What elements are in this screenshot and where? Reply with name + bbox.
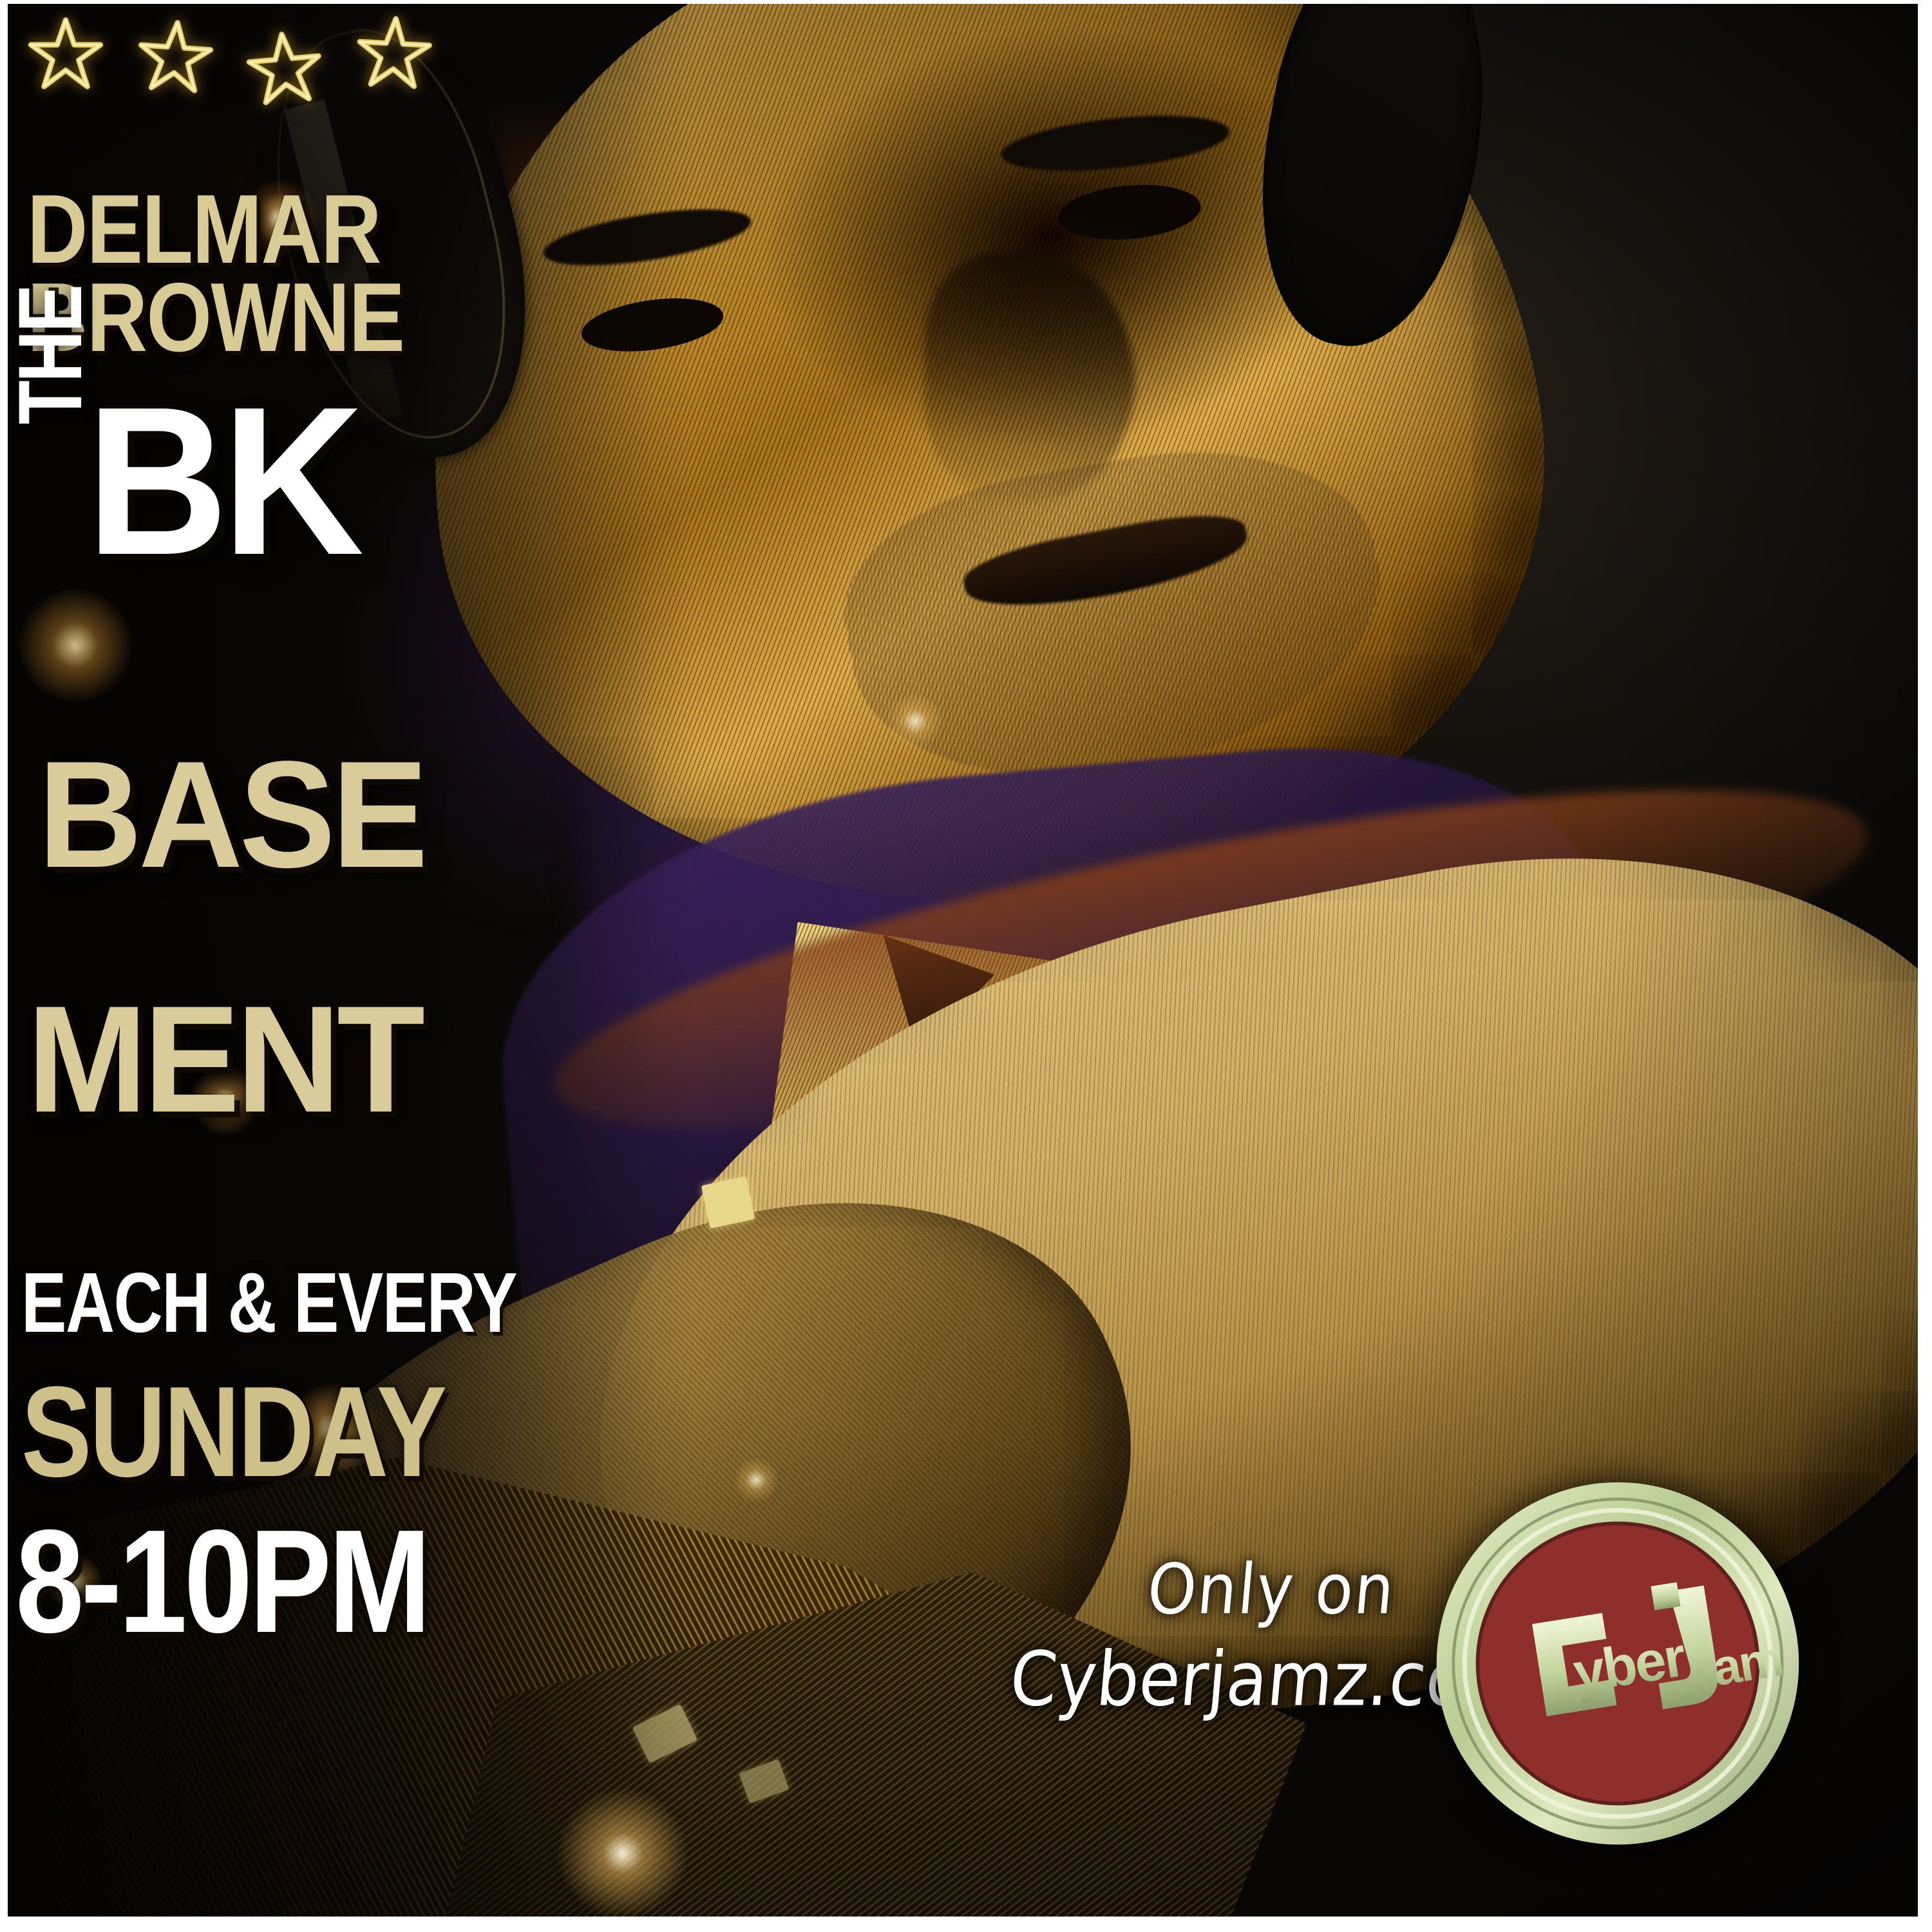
star-icon	[134, 15, 216, 98]
frame-border-right	[1918, 0, 1932, 1932]
show-title-the: THE	[12, 287, 89, 424]
text-layer: DELMAR BROWNE THE BK BASE MENT EACH & EV…	[8, 4, 1918, 1917]
schedule-frequency: EACH & EVERY	[21, 1266, 516, 1340]
star-icon	[354, 12, 435, 93]
schedule-time: 8-10PM	[15, 1519, 428, 1645]
frame-border-left	[0, 0, 8, 1932]
flyer-poster: DELMAR BROWNE THE BK BASE MENT EACH & EV…	[0, 0, 1932, 1932]
frame-border-top	[0, 0, 1932, 4]
svg-text:am: am	[1709, 1630, 1786, 1697]
cyberjamz-badge-icon: yber am	[1431, 1477, 1804, 1850]
star-icon	[243, 26, 327, 110]
show-title-bk: BK	[86, 390, 358, 572]
star-icon	[27, 15, 104, 93]
flyer-artwork: DELMAR BROWNE THE BK BASE MENT EACH & EV…	[8, 4, 1918, 1917]
cyberjamz-logo[interactable]: yber am	[1431, 1477, 1804, 1850]
show-title-ment: MENT	[27, 994, 421, 1125]
show-title-base: BASE	[38, 750, 424, 880]
schedule-day: SUNDAY	[21, 1377, 445, 1488]
star-rating-row	[27, 15, 433, 93]
frame-border-bottom	[0, 1917, 1932, 1932]
